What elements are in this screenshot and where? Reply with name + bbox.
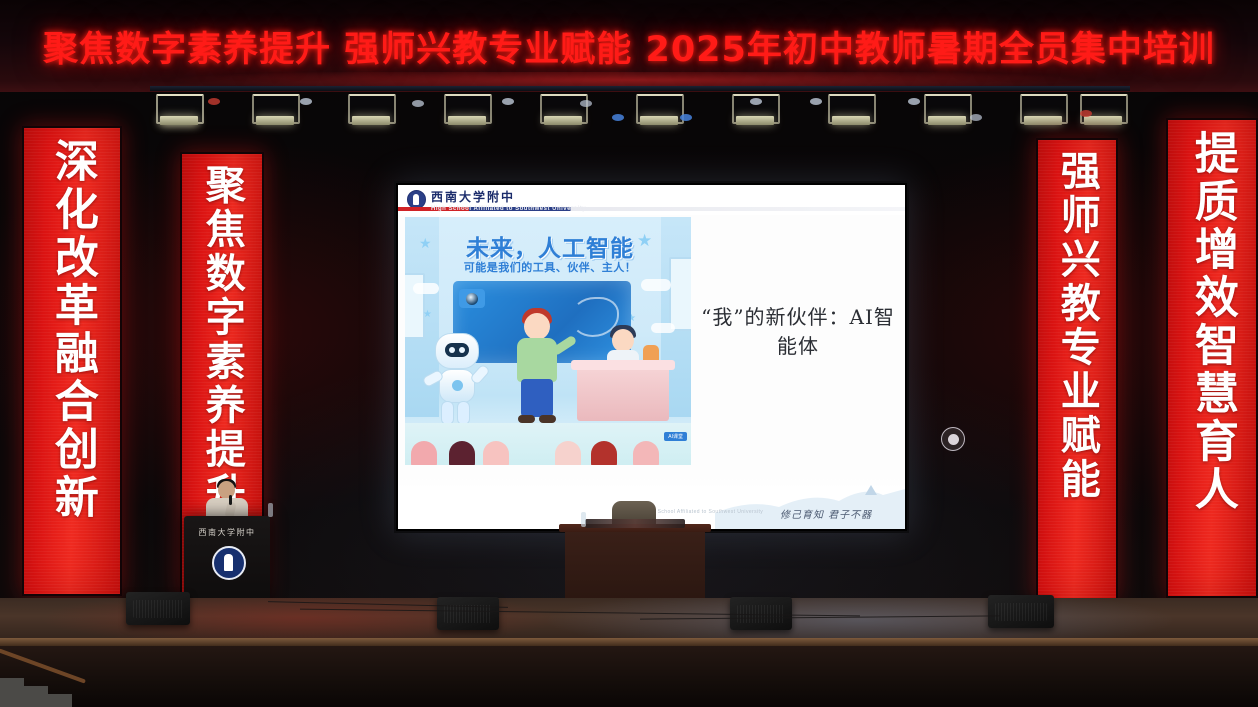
truss-bar bbox=[150, 86, 1130, 91]
water-bottle-icon bbox=[268, 503, 273, 517]
stage-light-icon bbox=[246, 94, 302, 132]
school-emblem-icon bbox=[212, 546, 246, 580]
illustration-window-right bbox=[669, 257, 691, 331]
truss-indicator-dot bbox=[612, 114, 624, 121]
audience-head bbox=[555, 441, 581, 465]
vertical-banner-right-inner: 强师兴教专业赋能 bbox=[1036, 138, 1118, 600]
stage-monitor-speaker-icon bbox=[437, 597, 499, 630]
star-icon: ★ bbox=[419, 235, 432, 252]
stage-stairs bbox=[0, 648, 120, 707]
stage-light-icon bbox=[918, 94, 974, 132]
slide-footer-calligraphy: 修己育知 君子不器 bbox=[780, 506, 872, 521]
illustration-tag: AI课堂 bbox=[664, 432, 687, 441]
projection-screen: 西南大学附中 High School Affiliated to Southwe… bbox=[394, 181, 909, 533]
truss-indicator-dot bbox=[810, 98, 822, 105]
illustration-title: 未来，人工智能 bbox=[435, 229, 665, 263]
truss-indicator-dot bbox=[412, 100, 424, 107]
cloud-shape bbox=[651, 323, 675, 333]
cloud-shape bbox=[413, 283, 439, 294]
truss-indicator-dot bbox=[970, 114, 982, 121]
stage-table bbox=[565, 530, 705, 606]
table-items bbox=[585, 519, 685, 528]
truss-indicator-dot bbox=[680, 114, 692, 121]
truss-indicator-dot bbox=[750, 98, 762, 105]
truss-indicator-dot bbox=[300, 98, 312, 105]
vertical-banner-right-outer: 提质增效智慧育人 bbox=[1166, 118, 1258, 598]
star-icon: ★ bbox=[423, 309, 432, 320]
audience-head bbox=[483, 441, 509, 465]
slide-header: 西南大学附中 High School Affiliated to Southwe… bbox=[398, 185, 905, 215]
student-desk bbox=[577, 367, 669, 421]
slide-school-name-en: High School Affiliated to Southwest Univ… bbox=[431, 206, 586, 212]
stage-apron bbox=[0, 646, 1258, 707]
audience-head bbox=[449, 441, 475, 465]
slide-surface: 西南大学附中 High School Affiliated to Southwe… bbox=[398, 185, 905, 529]
stair-step bbox=[24, 686, 48, 707]
stage-light-icon bbox=[630, 94, 686, 132]
truss-indicator-dot bbox=[908, 98, 920, 105]
water-bottle-icon bbox=[581, 512, 586, 527]
audience-head bbox=[411, 441, 437, 465]
vertical-banner-text: 强师兴教专业赋能 bbox=[1056, 150, 1098, 502]
audience-head bbox=[591, 441, 617, 465]
podium-label: 西南大学附中 bbox=[184, 527, 270, 538]
truss-indicator-dot bbox=[580, 100, 592, 107]
robot-figure bbox=[423, 333, 489, 427]
top-banner-text: 聚焦数字素养提升 强师兴教专业赋能 2025年初中教师暑期全员集中培训 bbox=[43, 21, 1215, 72]
camera-icon bbox=[459, 289, 485, 308]
stage-monitor-speaker-icon bbox=[988, 595, 1054, 628]
slide-footer-en: High School Affiliated to Southwest Univ… bbox=[644, 509, 763, 515]
vertical-banner-left-outer: 深化改革融合创新 bbox=[22, 126, 122, 596]
cloud-shape bbox=[641, 279, 671, 291]
vertical-banner-text: 提质增效智慧育人 bbox=[1189, 130, 1235, 514]
slide-illustration: ★ ★ ★ ★ 未来，人工智能 可能是我们的工具、伙伴、主人！ bbox=[405, 217, 691, 465]
account-avatar-watermark bbox=[941, 427, 965, 451]
stage-light-icon bbox=[342, 94, 398, 132]
stage-monitor-speaker-icon bbox=[126, 592, 190, 625]
slide-school-name-cn: 西南大学附中 bbox=[431, 188, 515, 205]
truss-indicator-dot bbox=[208, 98, 220, 105]
vertical-banner-text: 聚焦数字素养提升 bbox=[201, 164, 243, 516]
stair-step bbox=[0, 678, 24, 707]
stage-light-icon bbox=[438, 94, 494, 132]
stage-scene: 聚焦数字素养提升 强师兴教专业赋能 2025年初中教师暑期全员集中培训 深化改革… bbox=[0, 0, 1258, 707]
top-led-banner: 聚焦数字素养提升 强师兴教专业赋能 2025年初中教师暑期全员集中培训 bbox=[0, 0, 1258, 92]
illustration-subtitle: 可能是我们的工具、伙伴、主人！ bbox=[429, 259, 671, 275]
truss-indicator-dot bbox=[1080, 110, 1092, 117]
vertical-banner-text: 深化改革融合创新 bbox=[49, 138, 95, 522]
stair-step bbox=[48, 694, 72, 707]
slide-body-text: “我”的新伙伴：AI智能体 bbox=[698, 303, 898, 361]
stage-light-icon bbox=[822, 94, 878, 132]
microphone-icon bbox=[229, 495, 232, 505]
stage-light-icon bbox=[150, 94, 206, 132]
lighting-truss bbox=[150, 86, 1130, 148]
stage-light-icon bbox=[1014, 94, 1070, 132]
truss-indicator-dot bbox=[502, 98, 514, 105]
audience-head bbox=[633, 441, 659, 465]
audience-row: AI课堂 bbox=[405, 423, 691, 465]
teacher-figure bbox=[511, 303, 565, 425]
